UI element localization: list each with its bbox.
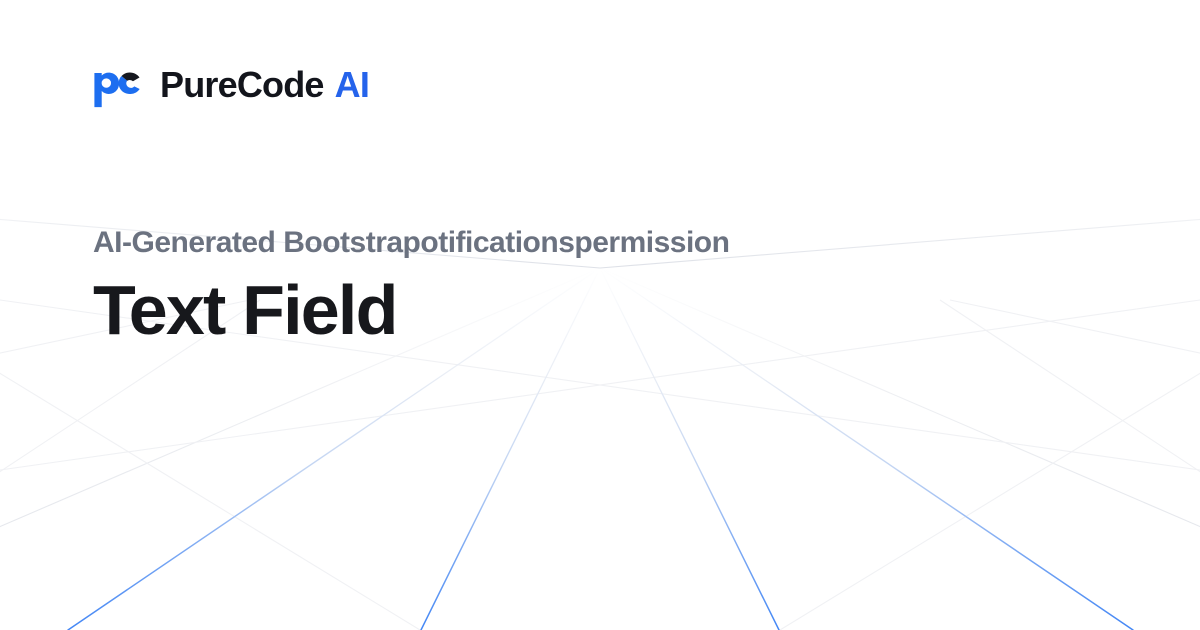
brand-wordmark: PureCode AI	[160, 67, 369, 103]
page-title: Text Field	[93, 274, 729, 348]
brand-accent-word: AI	[335, 67, 369, 103]
hero-eyebrow: AI-Generated Bootstrapotificationspermis…	[93, 225, 729, 260]
brand-logo[interactable]: PureCode AI	[92, 60, 369, 110]
brand-name: PureCode	[160, 67, 324, 103]
purecode-pc-monogram-icon	[92, 60, 142, 110]
hero-card: PureCode AI AI-Generated Bootstrapotific…	[0, 0, 1200, 630]
hero-headline-block: AI-Generated Bootstrapotificationspermis…	[93, 225, 729, 348]
